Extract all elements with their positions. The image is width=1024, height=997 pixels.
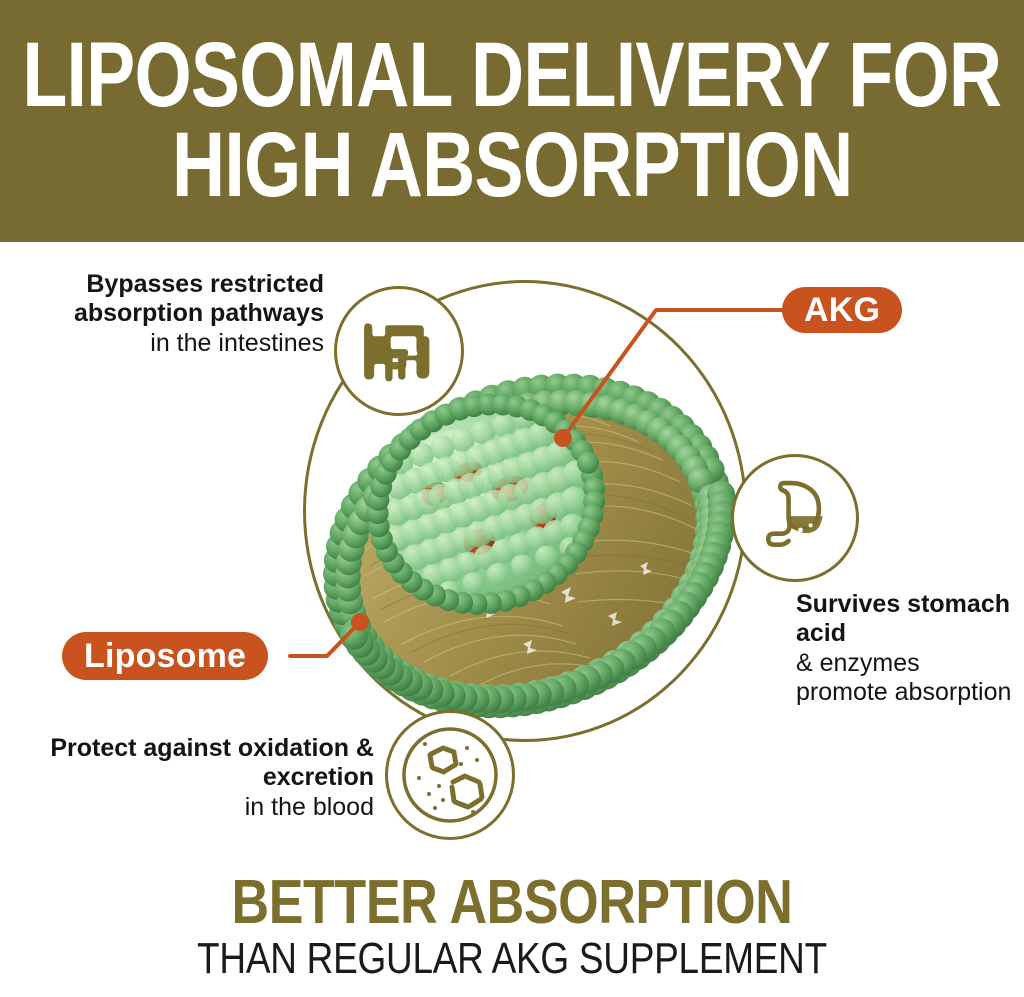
akg-badge-label: AKG: [804, 291, 880, 330]
akg-badge[interactable]: AKG: [782, 287, 902, 333]
feature-stomach-bold: Survives stomach acid: [796, 590, 1018, 649]
illustration-stage: AKG Liposome Bypasses restricted absorpt…: [0, 242, 1024, 872]
footer: BETTER ABSORPTION THAN REGULAR AKG SUPPL…: [0, 872, 1024, 982]
header-title-line1: LIPOSOMAL DELIVERY FOR: [23, 33, 1002, 119]
intestine-icon-bubble: [334, 286, 464, 416]
blood-molecule-icon-bubble: [385, 710, 515, 840]
stomach-icon: [749, 472, 841, 564]
footer-headline: BETTER ABSORPTION: [82, 872, 942, 934]
header-title-line2: HIGH ABSORPTION: [172, 123, 852, 209]
header-band: LIPOSOMAL DELIVERY FOR HIGH ABSORPTION: [0, 0, 1024, 242]
blood-molecule-icon: [395, 720, 505, 830]
feature-intestines-bold: Bypasses restricted absorption pathways: [6, 270, 324, 329]
feature-text-blood: Protect against oxidation & excretion in…: [22, 734, 374, 822]
intestine-icon: [353, 305, 445, 397]
feature-intestines-regular: in the intestines: [6, 329, 324, 358]
footer-subline: THAN REGULAR AKG SUPPLEMENT: [82, 936, 942, 982]
feature-blood-regular: in the blood: [22, 793, 374, 822]
stomach-icon-bubble: [731, 454, 859, 582]
feature-stomach-regular: & enzymes promote absorption: [796, 649, 1018, 708]
feature-blood-bold: Protect against oxidation & excretion: [22, 734, 374, 793]
infographic-page: LIPOSOMAL DELIVERY FOR HIGH ABSORPTION: [0, 0, 1024, 997]
liposome-badge[interactable]: Liposome: [62, 632, 268, 680]
liposome-badge-label: Liposome: [84, 637, 246, 676]
feature-text-stomach: Survives stomach acid & enzymes promote …: [796, 590, 1018, 707]
feature-text-intestines: Bypasses restricted absorption pathways …: [6, 270, 324, 358]
